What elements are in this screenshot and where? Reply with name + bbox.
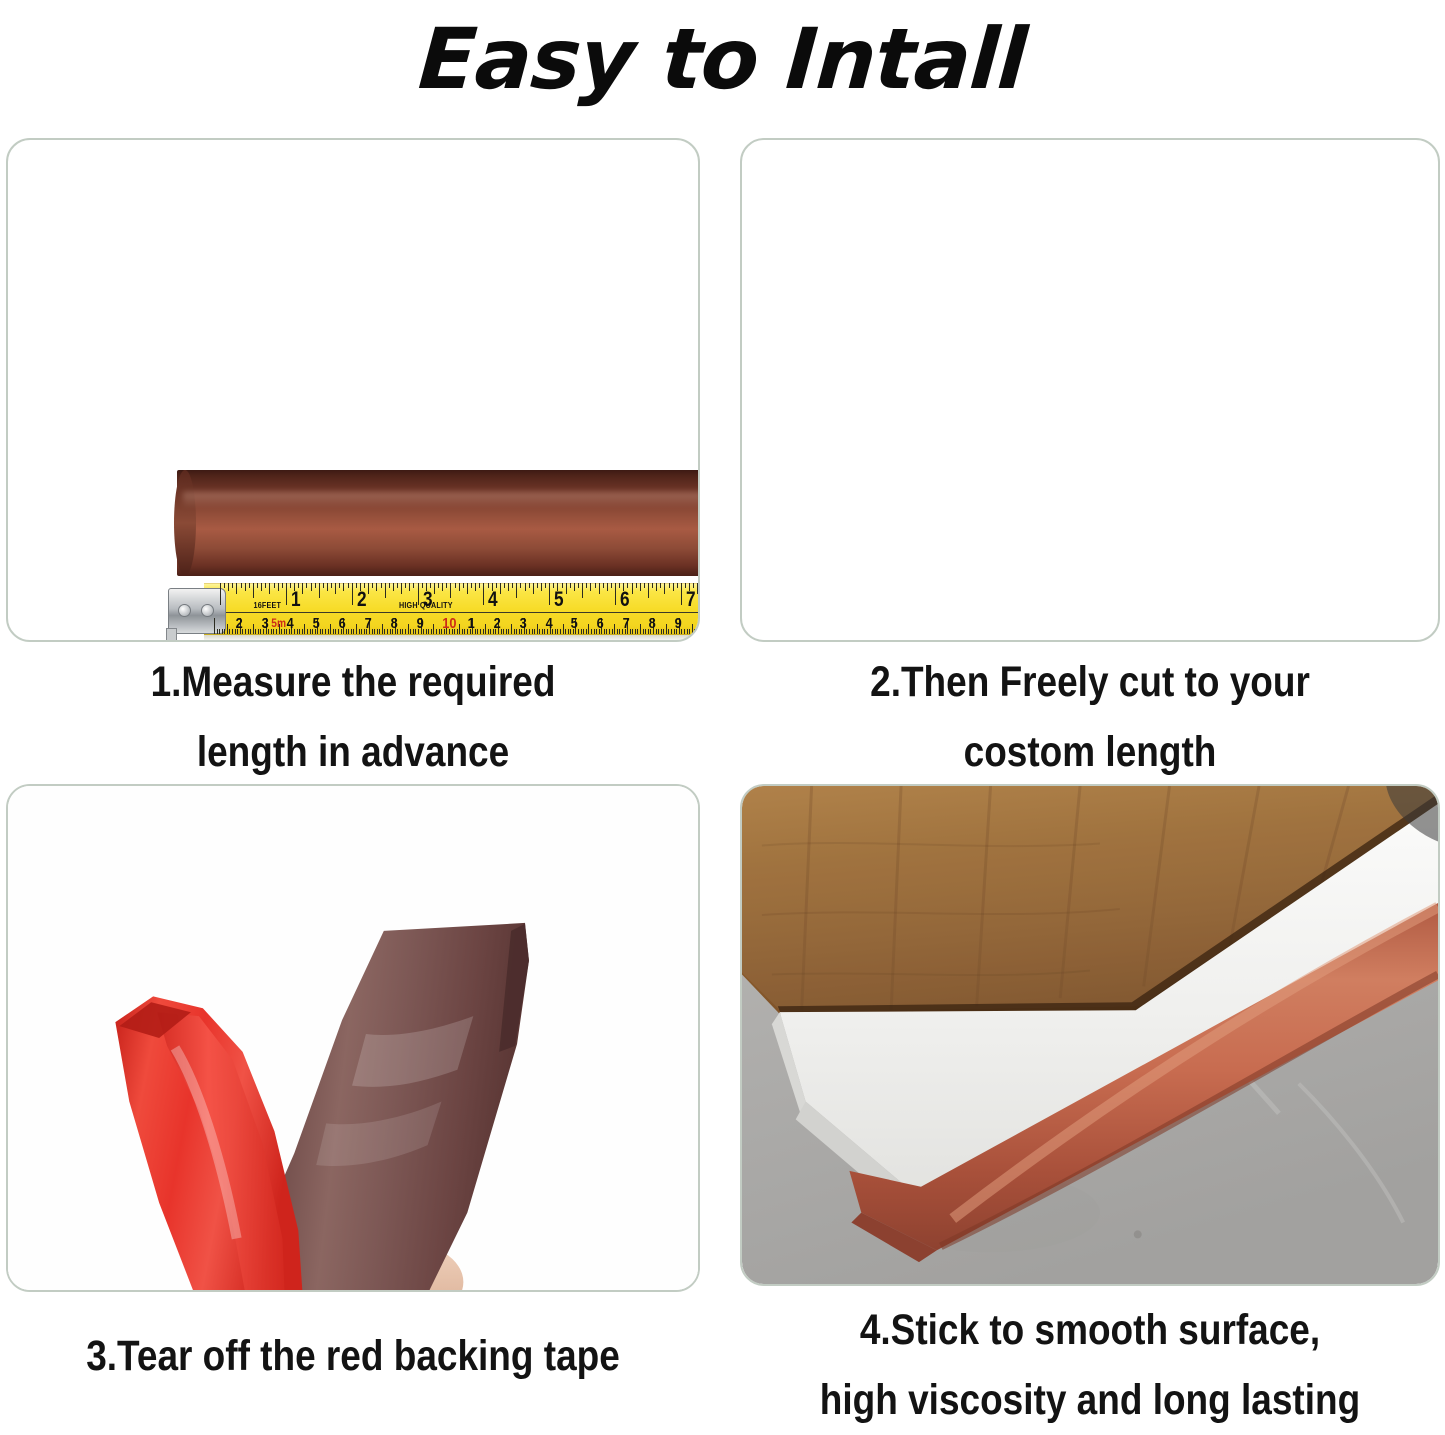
tape-inch-label: 5 (554, 589, 564, 610)
tape-cm-label: 10 (443, 616, 457, 631)
tape-tick-metric (353, 629, 354, 634)
tape-tick-imperial (673, 583, 674, 591)
tape-tick-metric (635, 629, 636, 634)
tape-cm-label: 6 (597, 616, 604, 631)
tape-tick-imperial (438, 583, 439, 588)
tape-tick-metric (359, 629, 360, 634)
tape-tick-metric (310, 629, 311, 634)
tape-cm-label: 9 (416, 616, 423, 631)
tape-tick-metric (516, 629, 517, 634)
tape-tick-imperial (586, 583, 587, 588)
tape-tick-metric (694, 629, 695, 634)
tape-inch-label: 7 (686, 589, 696, 610)
tape-tick-metric (433, 624, 434, 634)
tape-tick-imperial (525, 583, 526, 591)
tape-tick-metric (663, 629, 664, 634)
tape-tick-imperial (348, 583, 349, 588)
tape-tick-imperial (545, 583, 546, 588)
tape-tick-imperial (566, 583, 567, 594)
step-caption-4: 4.Stick to smooth surface, high viscosit… (789, 1296, 1391, 1435)
tape-cm-label: 1 (468, 616, 475, 631)
tape-tick-imperial (311, 583, 312, 591)
tape-tick-metric (583, 629, 584, 634)
tape-tick-imperial (595, 583, 596, 588)
tape-tick-metric (431, 629, 432, 634)
tape-tick-metric (229, 629, 230, 634)
tape-tick-imperial (397, 583, 398, 588)
tape-tick-imperial (615, 583, 616, 605)
tape-tick-metric (325, 629, 326, 634)
trim-strip-highlight (183, 492, 700, 508)
tape-tick-metric (462, 629, 463, 634)
tape-tick-metric (511, 624, 512, 634)
tape-tick-metric (382, 624, 383, 634)
tape-tick-imperial (459, 583, 460, 591)
tape-tick-imperial (632, 583, 633, 594)
tape-tick-imperial (446, 583, 447, 588)
tape-tick-metric (586, 629, 587, 634)
tape-tick-imperial (265, 583, 266, 588)
tape-tick-metric (645, 629, 646, 634)
tape-tick-imperial (512, 583, 513, 588)
tape-tick-imperial (257, 583, 258, 588)
tape-tick-imperial (504, 583, 505, 588)
tape-tick-imperial (331, 583, 332, 588)
tape-tick-imperial (376, 583, 377, 591)
tape-tick-metric (689, 629, 690, 634)
tape-tick-metric (346, 629, 347, 634)
tape-tick-metric (506, 629, 507, 634)
tape-tick-metric (426, 629, 427, 634)
tape-tick-imperial (335, 583, 336, 594)
tape-tick-imperial (479, 583, 480, 588)
tape-tick-imperial (455, 583, 456, 588)
tape-tick-metric (428, 629, 429, 634)
tape-tick-imperial (582, 583, 583, 598)
tape-tick-metric (699, 629, 700, 634)
tape-tick-metric (379, 629, 380, 634)
tape-tick-imperial (241, 583, 242, 588)
tape-tick-imperial (652, 583, 653, 588)
tape-tick-metric (666, 624, 667, 634)
tape-tick-metric (330, 624, 331, 634)
tape-tick-metric (387, 629, 388, 634)
tape-tick-metric (475, 629, 476, 634)
tape-tick-imperial (352, 583, 353, 605)
tape-tick-metric (302, 629, 303, 634)
tape-tick-imperial (500, 583, 501, 594)
tape-brand-label: 16FEET (254, 601, 281, 610)
page-title: Easy to Intall (0, 0, 1445, 118)
trim-strip-illustration (177, 470, 700, 576)
tape-tick-imperial (249, 583, 250, 588)
tape-tick-imperial (278, 583, 279, 591)
tape-tick-metric (214, 618, 215, 634)
tape-tick-metric (222, 629, 223, 634)
tape-tick-metric (384, 629, 385, 634)
tape-tick-imperial (253, 583, 254, 598)
tape-tick-imperial (697, 583, 698, 594)
tape-tick-imperial (236, 583, 237, 594)
tape-tick-metric (250, 629, 251, 634)
tape-tick-imperial (640, 583, 641, 591)
tape-tick-imperial (224, 583, 225, 588)
tape-tick-imperial (471, 583, 472, 588)
tape-cm-label: 8 (649, 616, 656, 631)
tape-tick-metric (568, 629, 569, 634)
tape-tick-imperial (319, 583, 320, 598)
tape-tick-imperial (343, 583, 344, 591)
tape-tick-metric (668, 629, 669, 634)
tape-inch-label: 1 (291, 589, 301, 610)
trim-strip-end-cap (174, 470, 196, 576)
tape-metric-label: 5m (271, 617, 286, 629)
tape-tick-imperial (372, 583, 373, 588)
tape-tick-metric (508, 629, 509, 634)
tape-tick-metric (617, 629, 618, 634)
installed-trim-photo (742, 786, 1438, 1284)
tape-tick-imperial (607, 583, 608, 591)
tape-measure-shadow (204, 634, 700, 642)
tape-inch-label: 2 (357, 589, 367, 610)
tape-tick-imperial (599, 583, 600, 594)
tape-tick-metric (410, 629, 411, 634)
tape-tick-metric (459, 624, 460, 634)
tape-tick-metric (532, 629, 533, 634)
tape-tick-imperial (450, 583, 451, 598)
tape-tick-metric (560, 629, 561, 634)
tape-tick-metric (255, 629, 256, 634)
tape-tick-imperial (306, 583, 307, 588)
tape-tick-imperial (315, 583, 316, 588)
tape-tick-imperial (282, 583, 283, 588)
tape-tick-metric (294, 629, 295, 634)
tape-tick-imperial (327, 583, 328, 591)
tape-tick-metric (413, 629, 414, 634)
tape-tick-metric (658, 629, 659, 634)
tape-tick-imperial (381, 583, 382, 588)
tape-tick-metric (604, 629, 605, 634)
tape-tick-imperial (389, 583, 390, 588)
tape-tick-imperial (220, 583, 221, 605)
tape-tick-metric (640, 624, 641, 634)
tape-tick-metric (219, 629, 220, 634)
tape-cm-label: 3 (261, 616, 268, 631)
tape-tick-imperial (274, 583, 275, 588)
tape-tick-metric (485, 624, 486, 634)
step-panel-4 (740, 784, 1440, 1286)
tape-tick-metric (612, 629, 613, 634)
tape-tick-metric (565, 629, 566, 634)
tape-tick-metric (588, 624, 589, 634)
tape-cm-label: 2 (494, 616, 501, 631)
tape-tick-imperial (269, 583, 270, 594)
tape-tick-metric (408, 624, 409, 634)
tape-tick-metric (537, 624, 538, 634)
tape-tick-imperial (681, 583, 682, 605)
tape-tick-imperial (413, 583, 414, 588)
tape-tick-imperial (228, 583, 229, 591)
tape-tick-imperial (574, 583, 575, 591)
tape-tick-metric (557, 629, 558, 634)
tape-tick-metric (542, 629, 543, 634)
tape-tick-metric (661, 629, 662, 634)
tape-tick-imperial (405, 583, 406, 588)
step-panel-2 (740, 138, 1440, 642)
tape-tick-imperial (570, 583, 571, 588)
concrete-speck (1134, 1230, 1142, 1238)
tape-tick-metric (490, 629, 491, 634)
tape-cm-label: 3 (519, 616, 526, 631)
tape-tick-imperial (578, 583, 579, 588)
step-caption-3: 3.Tear off the red backing tape (55, 1322, 652, 1392)
tape-tick-imperial (245, 583, 246, 591)
tape-tick-metric (534, 629, 535, 634)
tape-cm-label: 9 (674, 616, 681, 631)
tape-tick-metric (299, 629, 300, 634)
tape-tick-imperial (644, 583, 645, 588)
tape-tick-imperial (603, 583, 604, 588)
tape-tick-imperial (434, 583, 435, 594)
tape-tick-imperial (664, 583, 665, 594)
tape-tick-metric (619, 629, 620, 634)
tape-cm-label: 5 (571, 616, 578, 631)
tape-tick-metric (630, 629, 631, 634)
tape-inch-label: 4 (488, 589, 498, 610)
tape-tick-metric (632, 629, 633, 634)
tape-tick-metric (253, 624, 254, 634)
tape-tick-metric (637, 629, 638, 634)
tape-tick-metric (609, 629, 610, 634)
tape-tick-imperial (669, 583, 670, 588)
tape-tick-metric (248, 629, 249, 634)
tape-inch-label: 6 (620, 589, 630, 610)
tape-tick-metric (581, 629, 582, 634)
step-panel-3 (6, 784, 700, 1292)
tape-tick-metric (224, 629, 225, 634)
tape-tick-imperial (261, 583, 262, 591)
tape-tick-imperial (286, 583, 287, 605)
step-caption-1: 1.Measure the required length in advance (55, 648, 652, 787)
tape-tick-metric (227, 624, 228, 634)
tape-tick-metric (320, 629, 321, 634)
tape-tick-imperial (537, 583, 538, 588)
tape-tick-metric (405, 629, 406, 634)
tape-tick-metric (614, 624, 615, 634)
tape-cm-label: 4 (287, 616, 294, 631)
tape-tick-metric (503, 629, 504, 634)
tape-tick-imperial (401, 583, 402, 594)
tape-tick-imperial (442, 583, 443, 591)
tape-cm-label: 2 (235, 616, 242, 631)
tape-tick-metric (232, 629, 233, 634)
tape-tick-metric (457, 629, 458, 634)
tape-tick-metric (697, 629, 698, 634)
tape-tick-metric (439, 629, 440, 634)
tape-cm-label: 6 (339, 616, 346, 631)
tape-tick-metric (361, 629, 362, 634)
tape-tick-metric (328, 629, 329, 634)
tape-tick-metric (692, 624, 693, 634)
tape-tick-imperial (660, 583, 661, 588)
tape-tick-metric (514, 629, 515, 634)
tape-tick-metric (643, 629, 644, 634)
tape-tick-metric (377, 629, 378, 634)
tape-tick-metric (687, 629, 688, 634)
tape-tick-imperial (611, 583, 612, 588)
tape-tick-imperial (467, 583, 468, 594)
tape-tick-metric (480, 629, 481, 634)
tape-tick-imperial (516, 583, 517, 598)
tape-tick-metric (563, 624, 564, 634)
tape-tick-imperial (393, 583, 394, 591)
tape-tick-metric (258, 629, 259, 634)
tape-tick-metric (217, 629, 218, 634)
tape-tick-metric (348, 629, 349, 634)
backing-tape-photo (8, 786, 698, 1290)
step-caption-2: 2.Then Freely cut to your costom length (789, 648, 1391, 787)
tape-quality-label: HIGH QUALITY (399, 601, 453, 610)
tape-tick-imperial (656, 583, 657, 591)
tape-cm-label: 5 (313, 616, 320, 631)
tape-tick-metric (578, 629, 579, 634)
tape-tick-metric (335, 629, 336, 634)
tape-tick-imperial (677, 583, 678, 588)
tape-tick-metric (436, 629, 437, 634)
tape-tick-metric (351, 629, 352, 634)
tape-tick-metric (594, 629, 595, 634)
tape-tick-metric (555, 629, 556, 634)
tape-tick-metric (322, 629, 323, 634)
tape-tick-imperial (475, 583, 476, 591)
tape-cm-label: 4 (545, 616, 552, 631)
tape-tick-metric (356, 624, 357, 634)
tape-tick-metric (483, 629, 484, 634)
tape-tick-imperial (302, 583, 303, 594)
tape-tick-imperial (385, 583, 386, 598)
tape-tick-metric (297, 629, 298, 634)
tape-tick-imperial (339, 583, 340, 588)
tape-tick-metric (402, 629, 403, 634)
tape-tick-metric (333, 629, 334, 634)
tape-tick-metric (529, 629, 530, 634)
tape-tick-metric (684, 629, 685, 634)
tape-tick-metric (245, 629, 246, 634)
tape-tick-metric (304, 624, 305, 634)
tape-tick-metric (606, 629, 607, 634)
tape-tick-metric (488, 629, 489, 634)
tape-tick-imperial (463, 583, 464, 588)
tape-cm-label: 7 (623, 616, 630, 631)
tape-tick-metric (307, 629, 308, 634)
tape-tick-imperial (529, 583, 530, 588)
tape-tick-imperial (409, 583, 410, 591)
tape-tick-metric (464, 629, 465, 634)
tape-measure-center-line (204, 612, 700, 613)
tape-tick-imperial (590, 583, 591, 591)
tape-tick-metric (501, 629, 502, 634)
tape-tick-imperial (541, 583, 542, 591)
tape-tick-metric (591, 629, 592, 634)
tape-tick-metric (477, 629, 478, 634)
tape-tick-imperial (323, 583, 324, 588)
tape-tick-imperial (549, 583, 550, 605)
tape-tick-metric (400, 629, 401, 634)
tape-tick-imperial (508, 583, 509, 591)
tape-measure-tab (166, 628, 177, 642)
tape-cm-label: 8 (390, 616, 397, 631)
tape-tick-imperial (533, 583, 534, 594)
tape-tick-imperial (648, 583, 649, 598)
tape-tick-imperial (520, 583, 521, 588)
step-panel-1: 12345672345678910123456789 16FEET HIGH Q… (6, 138, 700, 642)
tape-tick-imperial (232, 583, 233, 588)
tape-cm-label: 7 (365, 616, 372, 631)
tape-tick-imperial (368, 583, 369, 594)
tape-tick-metric (539, 629, 540, 634)
tape-tick-imperial (636, 583, 637, 588)
tape-tick-metric (671, 629, 672, 634)
tape-tick-metric (374, 629, 375, 634)
tape-tick-imperial (483, 583, 484, 605)
